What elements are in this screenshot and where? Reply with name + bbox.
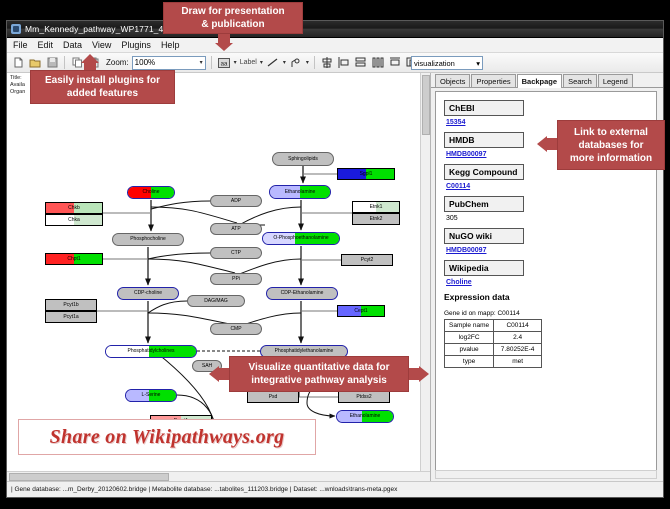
node-label: Sgpl1 <box>360 172 373 177</box>
table-row: log2FC2.4 <box>445 332 542 344</box>
table-cell-key: type <box>445 356 494 368</box>
tab-search[interactable]: Search <box>563 74 597 87</box>
callout-plugins-text: Easily install plugins foradded features <box>45 74 160 100</box>
menu-edit[interactable]: Edit <box>37 40 55 50</box>
toolbar-separator-3 <box>314 56 315 69</box>
db-label-kegg-compound: Kegg Compound <box>444 164 524 180</box>
metabolite-node-cmp[interactable]: CMP <box>210 323 262 335</box>
gene-node-sgpl1[interactable]: Sgpl1 <box>337 168 395 180</box>
side-panel-hscrollbar[interactable] <box>435 470 657 479</box>
chevron-down-icon-2: ▾ <box>476 59 480 68</box>
node-label: Pcyt2 <box>361 258 374 263</box>
statusbar-text: | Gene database: ...m_Derby_20120602.bri… <box>11 486 397 493</box>
expression-table: Sample nameC00114log2FC2.4pvalue7.80252E… <box>444 319 542 368</box>
node-label: Ptdss2 <box>356 395 371 400</box>
callout-visualize-arrow-head <box>209 366 219 382</box>
metabolite-node-sphingolipids[interactable]: Sphingolipids <box>272 152 334 166</box>
callout-link-text: Link to externaldatabases formore inform… <box>570 126 652 165</box>
table-cell-value: met <box>494 356 542 368</box>
gene-node-psd[interactable]: Psd <box>247 391 299 403</box>
node-label: CDP-Ethanolamine <box>281 291 324 296</box>
share-banner: Share on Wikipathways.org <box>18 419 316 455</box>
node-label: O-Phosphoethanolamine <box>273 236 328 241</box>
gene-node-ptdss2[interactable]: Ptdss2 <box>338 391 390 403</box>
db-value-pubchem: 305 <box>446 215 656 222</box>
node-label: Phosphocholine <box>130 237 166 242</box>
share-banner-text: Share on Wikipathways.org <box>50 426 285 449</box>
table-row: pvalue7.80252E-4 <box>445 344 542 356</box>
callout-plugins-arrow-head <box>81 54 99 63</box>
node-label: Ethanolamine <box>285 190 316 195</box>
node-label: Etnk1 <box>370 205 383 210</box>
gene-node-pcyt2[interactable]: Pcyt2 <box>341 254 393 266</box>
node-label: Phosphatidylcholines <box>128 349 175 354</box>
metabolite-node-ophosphoethanolamine[interactable]: O-Phosphoethanolamine <box>262 232 340 245</box>
callout-visualize-text: Visualize quantitative data forintegrati… <box>249 361 390 387</box>
table-cell-key: log2FC <box>445 332 494 344</box>
node-label: Sphingolipids <box>288 157 318 162</box>
line-icon[interactable] <box>266 56 280 70</box>
datanode-dropdown-icon[interactable]: ▾ <box>234 59 237 66</box>
node-label: ATP <box>231 227 240 232</box>
metabolite-node-phosphatidylcholine[interactable]: Phosphatidylcholines <box>105 345 197 358</box>
tab-objects[interactable]: Objects <box>435 74 470 87</box>
table-cell-value: 2.4 <box>494 332 542 344</box>
gene-node-pcyt1b[interactable]: Pcyt1b <box>45 299 97 311</box>
callout-link: Link to externaldatabases formore inform… <box>557 120 665 170</box>
new-icon[interactable] <box>11 56 25 70</box>
db-label-chebi: ChEBI <box>444 100 524 116</box>
zoom-value: 100% <box>135 58 155 67</box>
table-cell-key: Sample name <box>445 320 494 332</box>
metabolite-node-phosphocholine[interactable]: Phosphocholine <box>112 233 184 246</box>
node-label: Phosphatidylethanolamine <box>275 349 334 354</box>
gene-id-line: Gene id on mapp: C00114 <box>444 310 656 317</box>
expression-data-title: Expression data <box>444 292 656 302</box>
line-dropdown-icon[interactable]: ▾ <box>283 59 286 66</box>
node-label: Chkb <box>68 206 80 211</box>
node-label: DAG/MAG <box>204 299 228 304</box>
toolbar-separator <box>64 56 65 69</box>
menu-help[interactable]: Help <box>160 40 181 50</box>
node-label: Choline <box>143 190 160 195</box>
node-label: CTP <box>231 251 241 256</box>
label-dropdown-icon[interactable]: ▾ <box>260 59 263 66</box>
label-tool-label[interactable]: Label <box>240 59 257 66</box>
menu-data[interactable]: Data <box>62 40 83 50</box>
callout-draw-arrow-head <box>215 43 233 51</box>
db-link-kegg-compound[interactable]: C00114 <box>446 183 656 190</box>
chevron-down-icon: ▾ <box>200 59 203 66</box>
callout-visualize: Visualize quantitative data forintegrati… <box>229 356 409 392</box>
save-icon[interactable] <box>45 56 59 70</box>
toolbar-separator-2 <box>211 56 212 69</box>
callout-draw-arrow-stem <box>218 34 230 43</box>
menu-plugins[interactable]: Plugins <box>120 40 152 50</box>
metabolite-node-ethanolamine1[interactable]: Ethanolamine <box>269 185 331 199</box>
db-label-hmdb: HMDB <box>444 132 524 148</box>
db-label-nugo-wiki: NuGO wiki <box>444 228 524 244</box>
table-cell-value: C00114 <box>494 320 542 332</box>
datanode-icon[interactable]: aa <box>217 56 231 70</box>
statusbar: | Gene database: ...m_Derby_20120602.bri… <box>7 481 663 497</box>
node-label: Psd <box>269 395 278 400</box>
metabolite-node-ctp[interactable]: CTP <box>210 247 262 259</box>
menubar: File Edit Data View Plugins Help <box>7 38 663 53</box>
node-label: Chka <box>68 218 80 223</box>
callout-draw-text: Draw for presentation& publication <box>181 5 284 31</box>
db-link-nugo-wiki[interactable]: HMDB00097 <box>446 247 656 254</box>
tab-legend[interactable]: Legend <box>598 74 633 87</box>
side-panel-tabs: Objects Properties Backpage Search Legen… <box>431 73 663 88</box>
db-label-wikipedia: Wikipedia <box>444 260 524 276</box>
metabolite-node-ethanolamine2[interactable]: Ethanolamine <box>336 410 394 423</box>
gene-node-cept1[interactable]: Cept1 <box>337 305 385 317</box>
node-label: PPi <box>232 277 240 282</box>
gene-node-chka[interactable]: Chka <box>45 214 103 226</box>
table-cell-key: pvalue <box>445 344 494 356</box>
metabolite-node-atp[interactable]: ATP <box>210 223 262 235</box>
canvas-horizontal-scrollbar[interactable] <box>7 471 431 481</box>
tab-properties[interactable]: Properties <box>471 74 515 87</box>
align-left-icon[interactable] <box>337 56 351 70</box>
node-label: Pcyt1b <box>63 303 78 308</box>
db-link-wikipedia[interactable]: Choline <box>446 279 656 286</box>
node-label: Chpt1 <box>67 257 80 262</box>
app-icon <box>11 24 21 34</box>
metabolite-node-cdp-choline[interactable]: CDP-choline <box>117 287 179 300</box>
window-titlebar: Mm_Kennedy_pathway_WP1771_45176.gpml <box>7 21 663 38</box>
table-row: Sample nameC00114 <box>445 320 542 332</box>
node-label: Ethanolamine <box>350 414 381 419</box>
gene-node-pcyt1a[interactable]: Pcyt1a <box>45 311 97 323</box>
table-cell-value: 7.80252E-4 <box>494 344 542 356</box>
node-label: Pcyt1a <box>63 315 78 320</box>
screenshot-root: Mm_Kennedy_pathway_WP1771_45176.gpml Fil… <box>0 0 670 509</box>
metabolite-node-l-serine-left[interactable]: L-Serine <box>125 389 177 402</box>
callout-plugins: Easily install plugins foradded features <box>30 70 175 104</box>
gene-node-etnk1[interactable]: Etnk1 <box>352 201 400 213</box>
metabolite-node-ppi[interactable]: PPi <box>210 273 262 285</box>
db-label-pubchem: PubChem <box>444 196 524 212</box>
callout-visualize-arrow-head-right <box>419 366 429 382</box>
stack-icon[interactable] <box>354 56 368 70</box>
node-label: Cept1 <box>354 309 367 314</box>
node-label: ADP <box>231 199 241 204</box>
metabolite-node-cdp-ethanolamine[interactable]: CDP-Ethanolamine <box>266 287 338 300</box>
callout-link-arrow-head <box>537 136 547 152</box>
receptor-icon[interactable] <box>289 56 303 70</box>
gene-node-etnk2[interactable]: Etnk2 <box>352 213 400 225</box>
node-label: CMP <box>230 327 241 332</box>
open-icon[interactable] <box>28 56 42 70</box>
node-label: L-Serine <box>142 393 161 398</box>
zoom-label: Zoom: <box>106 58 129 67</box>
metabolite-node-dagmag[interactable]: DAG/MAG <box>187 295 245 307</box>
same-size-icon[interactable] <box>388 56 402 70</box>
gene-node-chkb[interactable]: Chkb <box>45 202 103 214</box>
node-label: CDP-choline <box>134 291 162 296</box>
visualization-value: visualization <box>414 59 455 68</box>
gene-node-chpt1[interactable]: Chpt1 <box>45 253 103 265</box>
tab-backpage[interactable]: Backpage <box>517 74 562 88</box>
canvas-vertical-scrollbar[interactable] <box>420 73 430 471</box>
metabolite-node-choline-top[interactable]: Choline <box>127 186 175 199</box>
visualization-combo[interactable]: visualization ▾ <box>411 56 483 70</box>
zoom-combo[interactable]: 100% ▾ <box>132 56 206 70</box>
menu-view[interactable]: View <box>91 40 112 50</box>
callout-draw: Draw for presentation& publication <box>163 2 303 34</box>
scroll-thumb[interactable] <box>422 75 430 135</box>
node-label: Etnk2 <box>370 217 383 222</box>
distribute-icon[interactable] <box>371 56 385 70</box>
scroll-thumb-h[interactable] <box>9 473 169 481</box>
table-row: typemet <box>445 356 542 368</box>
menu-file[interactable]: File <box>12 40 29 50</box>
metabolite-node-adp[interactable]: ADP <box>210 195 262 207</box>
svg-text:aa: aa <box>220 61 227 67</box>
receptor-dropdown-icon[interactable]: ▾ <box>306 59 309 66</box>
align-center-icon[interactable] <box>320 56 334 70</box>
